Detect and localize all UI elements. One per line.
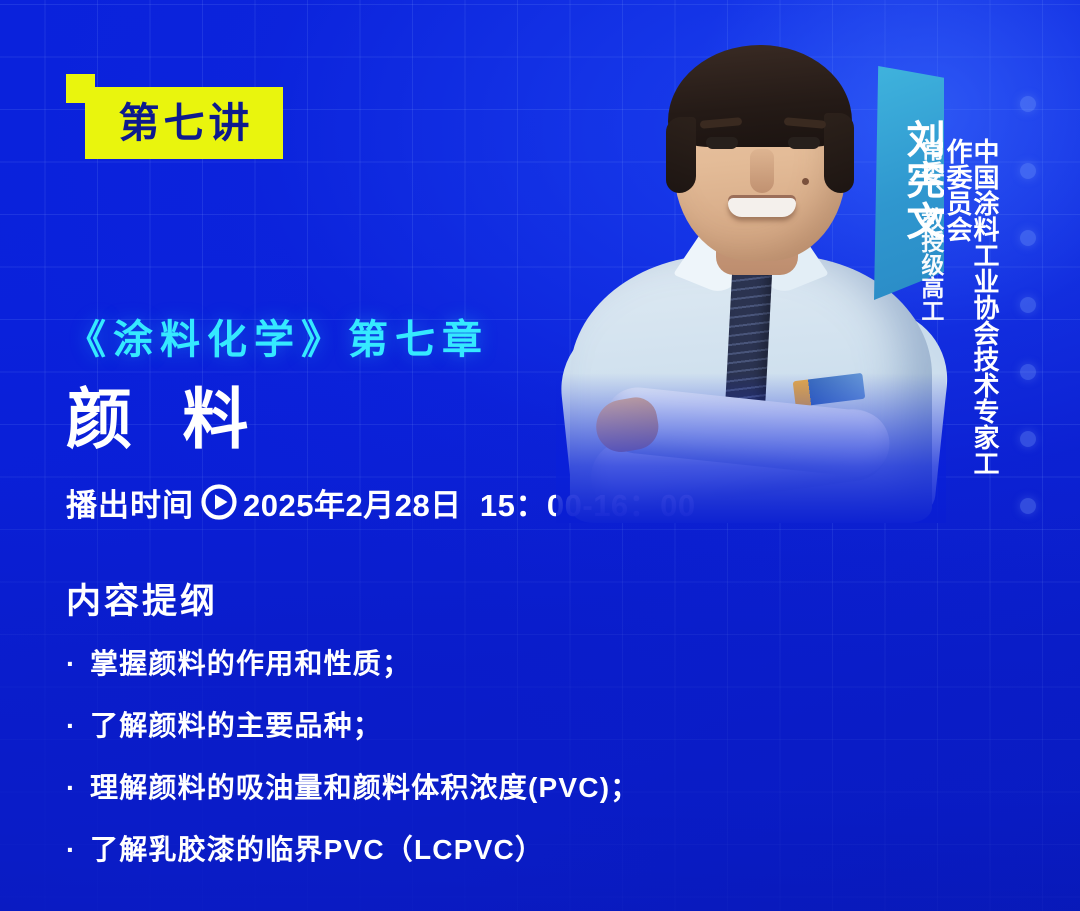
bullet-icon: ·	[66, 774, 90, 802]
dot-icon	[1020, 163, 1036, 179]
promo-poster: 第七讲 刘宪文 常委、教授级高工 中国涂料工业	[0, 0, 1080, 911]
portrait-mole	[802, 178, 809, 185]
list-item: · 理解颜料的吸油量和颜料体积浓度(PVC)；	[66, 774, 786, 802]
bullet-icon: ·	[66, 650, 90, 678]
portrait-hair-left	[666, 117, 696, 193]
portrait-eyebrow-left	[700, 117, 743, 129]
portrait-hair	[668, 45, 852, 147]
airtime-label: 播出时间	[66, 480, 194, 525]
page-title: 颜 料	[66, 382, 786, 458]
portrait-eye-left	[706, 137, 738, 149]
dot-icon	[1020, 297, 1036, 313]
portrait-collar-right	[733, 212, 829, 296]
airtime-value: 2025年2月28日 15：00-16：00	[243, 480, 696, 525]
list-item: · 掌握颜料的作用和性质；	[66, 650, 786, 678]
bullet-icon: ·	[66, 836, 90, 864]
list-item-label: 理解颜料的吸油量和颜料体积浓度(PVC)；	[90, 774, 786, 802]
list-item-label: 掌握颜料的作用和性质；	[90, 650, 786, 678]
airtime-row: 播出时间 2025年2月28日 15：00-16：00	[66, 480, 786, 525]
decorative-dot-column	[1020, 96, 1036, 514]
portrait-shirt-logo	[793, 373, 866, 407]
portrait-head	[674, 53, 846, 261]
portrait-necktie-knot	[727, 240, 766, 275]
lesson-badge-box: 第七讲	[85, 87, 283, 159]
portrait-hair-right	[824, 113, 854, 193]
list-item: · 了解乳胶漆的临界PVC（LCPVC）	[66, 836, 786, 864]
portrait-collar-left	[673, 212, 769, 296]
list-item-label: 了解乳胶漆的临界PVC（LCPVC）	[90, 836, 786, 864]
speaker-credential-secondary: 常委、教授级高工	[918, 138, 942, 338]
portrait-ear-right	[832, 129, 854, 171]
chapter-subtitle: 《涂料化学》第七章	[66, 316, 786, 364]
lesson-badge-label: 第七讲	[115, 103, 254, 144]
outline-list: · 掌握颜料的作用和性质； · 了解颜料的主要品种； · 理解颜料的吸油量和颜料…	[66, 650, 786, 864]
lesson-badge: 第七讲	[66, 74, 326, 178]
outline-heading: 内容提纲	[66, 573, 786, 624]
content-block: 《涂料化学》第七章 颜 料 播出时间 2025年2月28日 15：00-16：0…	[66, 316, 786, 898]
dot-icon	[1020, 364, 1036, 380]
speaker-credential-primary: 中国涂料工业协会技术专家工作委员会	[944, 138, 998, 486]
speaker-credentials: 常委、教授级高工 中国涂料工业协会技术专家工作委员会	[918, 138, 998, 488]
list-item-label: 了解颜料的主要品种；	[90, 712, 786, 740]
portrait-nose	[750, 149, 774, 193]
dot-icon	[1020, 230, 1036, 246]
portrait-neck	[716, 197, 798, 275]
portrait-eye-right	[788, 137, 820, 149]
portrait-ear-left	[666, 129, 688, 171]
dot-icon	[1020, 96, 1036, 112]
portrait-mouth	[728, 198, 796, 217]
play-icon	[201, 484, 237, 520]
list-item: · 了解颜料的主要品种；	[66, 712, 786, 740]
dot-icon	[1020, 498, 1036, 514]
portrait-eyebrow-right	[784, 117, 827, 129]
bullet-icon: ·	[66, 712, 90, 740]
dot-icon	[1020, 431, 1036, 447]
